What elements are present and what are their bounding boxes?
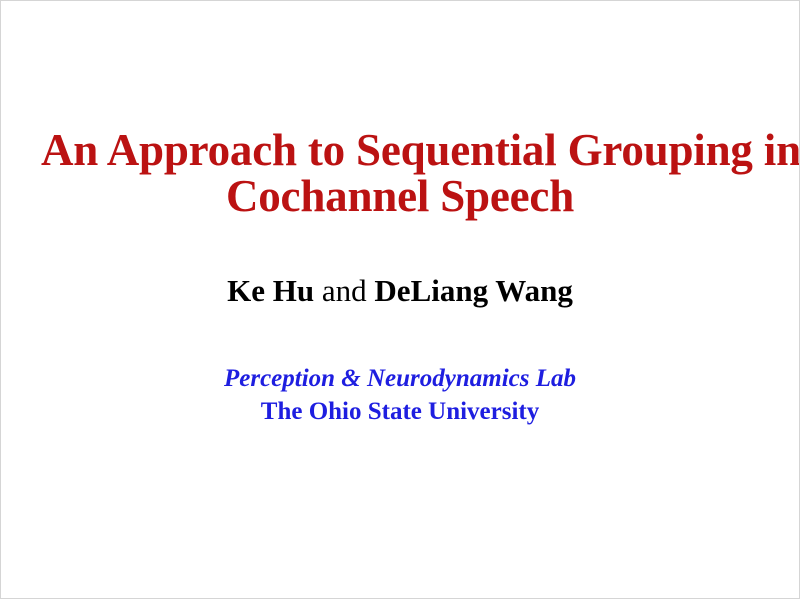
author-list: Ke Hu and DeLiang Wang xyxy=(41,273,759,309)
affiliation: Perception & Neurodynamics Lab The Ohio … xyxy=(41,362,759,428)
slide-title: An Approach to Sequential Grouping in Co… xyxy=(41,127,759,219)
title-line-2: Cochannel Speech xyxy=(41,173,759,219)
authors-line: Ke Hu and DeLiang Wang xyxy=(41,273,759,309)
author-conjunction: and xyxy=(322,273,367,308)
affiliation-university: The Ohio State University xyxy=(41,395,759,428)
author-first: Ke Hu xyxy=(227,273,314,308)
title-line-1: An Approach to Sequential Grouping in xyxy=(41,127,759,173)
author-second: DeLiang Wang xyxy=(374,273,572,308)
presentation-slide: An Approach to Sequential Grouping in Co… xyxy=(0,0,800,599)
affiliation-lab: Perception & Neurodynamics Lab xyxy=(41,362,759,395)
